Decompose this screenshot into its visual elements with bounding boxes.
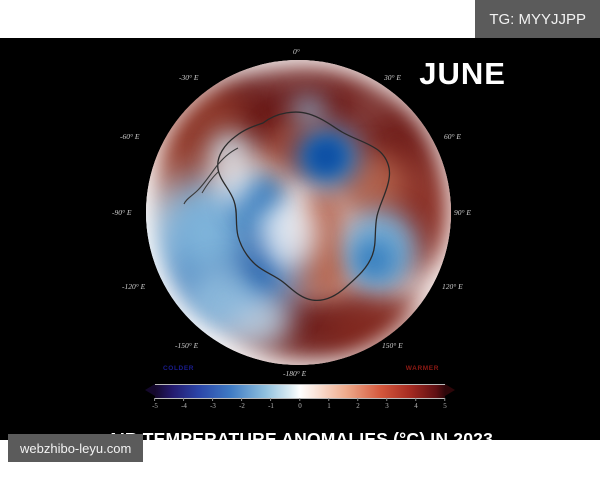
colorbar-tick-label: -5 — [152, 402, 158, 410]
colorbar-tick-label: -3 — [210, 402, 216, 410]
colorbar: COLDER WARMER -5 -4 -3 -2 -1 0 1 2 3 4 5 — [145, 374, 455, 410]
lon-label-60e: 60° E — [444, 132, 461, 141]
colorbar-gradient: -5 -4 -3 -2 -1 0 1 2 3 4 5 — [145, 384, 455, 397]
colorbar-tick-label: -1 — [268, 402, 274, 410]
lon-label-90e: 90° E — [454, 208, 471, 217]
lon-label-150e: 150° E — [382, 341, 403, 350]
lon-label-neg150e: -150° E — [175, 341, 198, 350]
tag-badge: TG: MYYJJPP — [475, 0, 600, 38]
colorbar-tick-label: 3 — [385, 402, 389, 410]
colorbar-cap-high — [445, 384, 455, 396]
lon-label-neg120e: -120° E — [122, 282, 145, 291]
colorbar-ramp — [155, 384, 445, 399]
colorbar-ticks: -5 -4 -3 -2 -1 0 1 2 3 4 5 — [155, 398, 445, 412]
colorbar-tick-label: 4 — [414, 402, 418, 410]
lon-label-neg60e: -60° E — [120, 132, 139, 141]
lon-label-0: 0° — [293, 47, 300, 56]
map-disc — [146, 60, 451, 365]
watermark-badge: webzhibo-leyu.com — [8, 434, 143, 462]
colorbar-tick-label: 0 — [298, 402, 302, 410]
colorbar-tick-label: 1 — [327, 402, 331, 410]
antarctica-outline — [146, 60, 451, 365]
colorbar-warm-label: WARMER — [406, 365, 439, 372]
colorbar-cold-label: COLDER — [163, 365, 194, 372]
lon-label-neg30e: -30° E — [179, 73, 198, 82]
colorbar-cap-low — [145, 384, 155, 396]
polar-map: 0° 30° E 60° E 90° E 120° E 150° E -180°… — [146, 60, 451, 365]
lon-label-neg90e: -90° E — [112, 208, 131, 217]
colorbar-tick-label: 2 — [356, 402, 360, 410]
colorbar-tick-label: -2 — [239, 402, 245, 410]
colorbar-tick-label: -4 — [181, 402, 187, 410]
lon-label-120e: 120° E — [442, 282, 463, 291]
colorbar-tick-label: 5 — [443, 402, 447, 410]
screenshot-root: JUNE — [0, 0, 600, 480]
figure-panel: JUNE — [0, 38, 600, 440]
lon-label-30e: 30° E — [384, 73, 401, 82]
